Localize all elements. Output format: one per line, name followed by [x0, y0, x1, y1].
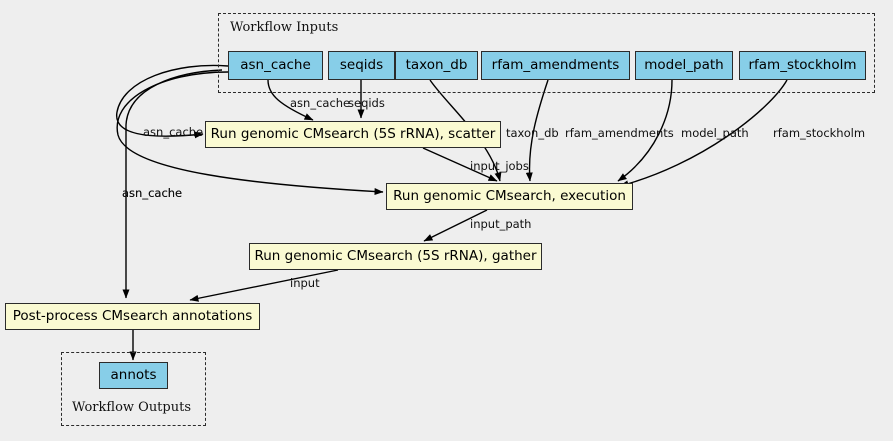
- edge-model-path-to-execution-label: model_path: [681, 128, 749, 140]
- step-cmsearch-scatter[interactable]: Run genomic CMsearch (5S rRNA), scatter: [205, 121, 501, 148]
- output-annots[interactable]: annots: [99, 362, 168, 389]
- edge-asn-cache-to-scatter-label: asn_cache: [290, 98, 350, 110]
- step-cmsearch-execution[interactable]: Run genomic CMsearch, execution: [386, 183, 633, 210]
- step-postprocess[interactable]: Post-process CMsearch annotations: [5, 303, 260, 330]
- edge-rfam-amendments-to-execution-label: rfam_amendments: [565, 128, 674, 140]
- input-seqids[interactable]: seqids: [328, 51, 395, 80]
- input-asn-cache[interactable]: asn_cache: [228, 51, 323, 80]
- input-rfam-amendments[interactable]: rfam_amendments: [481, 51, 630, 80]
- cluster-label-workflow-inputs: Workflow Inputs: [230, 20, 338, 35]
- edge-gather-to-postprocess-label: input: [290, 278, 320, 290]
- workflow-diagram-canvas: Workflow InputsWorkflow Outputs asn_cach…: [0, 0, 893, 441]
- edge-seqids-to-scatter-label: seqids: [348, 98, 385, 110]
- edge-asn-cache-to-scatter-left-label: asn_cache: [143, 127, 203, 139]
- input-taxon-db[interactable]: taxon_db: [395, 51, 478, 80]
- input-model-path[interactable]: model_path: [635, 51, 733, 80]
- edge-taxon-db-to-execution-label: taxon_db: [506, 128, 559, 140]
- input-rfam-stockholm[interactable]: rfam_stockholm: [739, 51, 866, 80]
- edge-rfam-stockholm-to-execution-label: rfam_stockholm: [773, 128, 865, 140]
- edge-asn-cache-to-postprocess: [126, 70, 222, 298]
- edge-execution-to-gather-label: input_path: [470, 219, 531, 231]
- cluster-label-workflow-outputs: Workflow Outputs: [72, 400, 191, 415]
- edge-asn-cache-to-postprocess-label: asn_cache: [122, 188, 182, 200]
- step-cmsearch-gather[interactable]: Run genomic CMsearch (5S rRNA), gather: [249, 243, 542, 270]
- edge-scatter-to-execution-label: input_jobs: [470, 161, 529, 173]
